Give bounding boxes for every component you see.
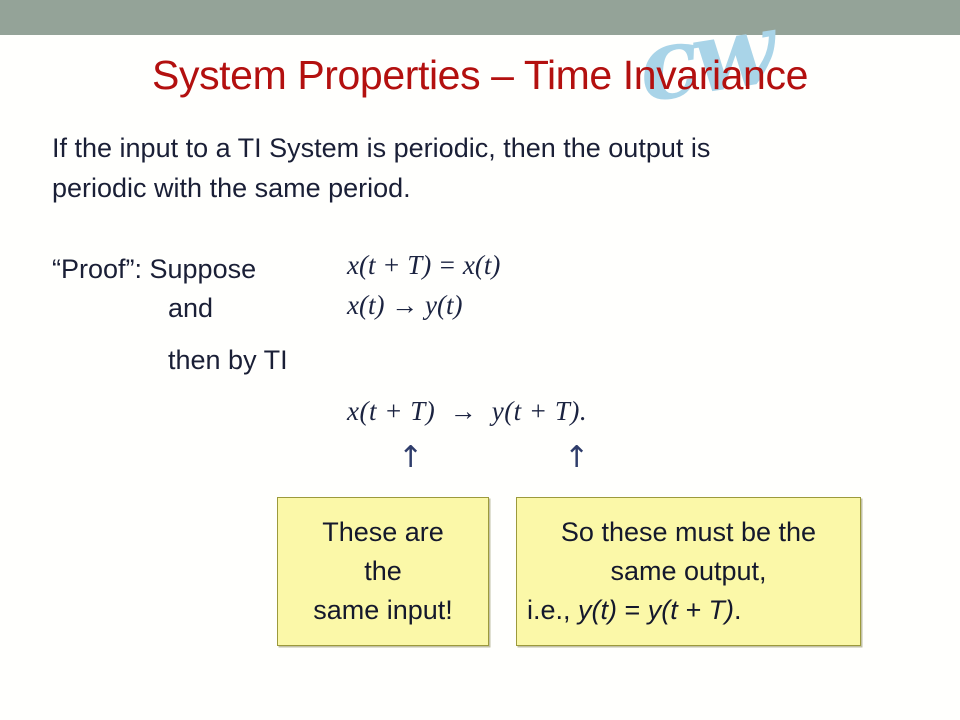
statement-text: If the input to a TI System is periodic,… <box>52 128 692 208</box>
and-label: and <box>168 288 213 328</box>
callout-line: the <box>286 552 480 591</box>
slide-canvas: cw System Properties – Time Invariance I… <box>0 0 960 720</box>
callout-line: These are <box>286 513 480 552</box>
equation-x-shift-equals-x: x(t + T) = x(t) <box>347 250 500 281</box>
equation-x-maps-to-y: x(t) → y(t) <box>347 290 462 321</box>
up-arrow-icon-left: ↑ <box>398 443 423 473</box>
callout-equation-middle: = <box>617 595 648 625</box>
callout-same-output: So these must be the same output, i.e., … <box>516 497 861 646</box>
callout-equation-math-b: y(t + T) <box>648 595 734 625</box>
then-by-ti-label: then by TI <box>168 340 288 380</box>
callout-line: same output, <box>525 552 852 591</box>
callout-equation: i.e., y(t) = y(t + T). <box>525 591 852 630</box>
callout-line: So these must be the <box>525 513 852 552</box>
up-arrow-icon-right: ↑ <box>564 443 589 473</box>
callout-line: same input! <box>286 591 480 630</box>
callout-equation-math-a: y(t) <box>578 595 617 625</box>
proof-label: “Proof”: Suppose <box>52 249 256 289</box>
callout-same-input: These are the same input! <box>277 497 489 646</box>
callout-equation-prefix: i.e., <box>527 595 578 625</box>
page-title: System Properties – Time Invariance <box>0 52 960 99</box>
equation-x-shift-maps-to-y-shift: x(t + T) → y(t + T). <box>347 396 587 427</box>
slide-content: If the input to a TI System is periodic,… <box>0 0 960 720</box>
callout-equation-suffix: . <box>734 595 742 625</box>
